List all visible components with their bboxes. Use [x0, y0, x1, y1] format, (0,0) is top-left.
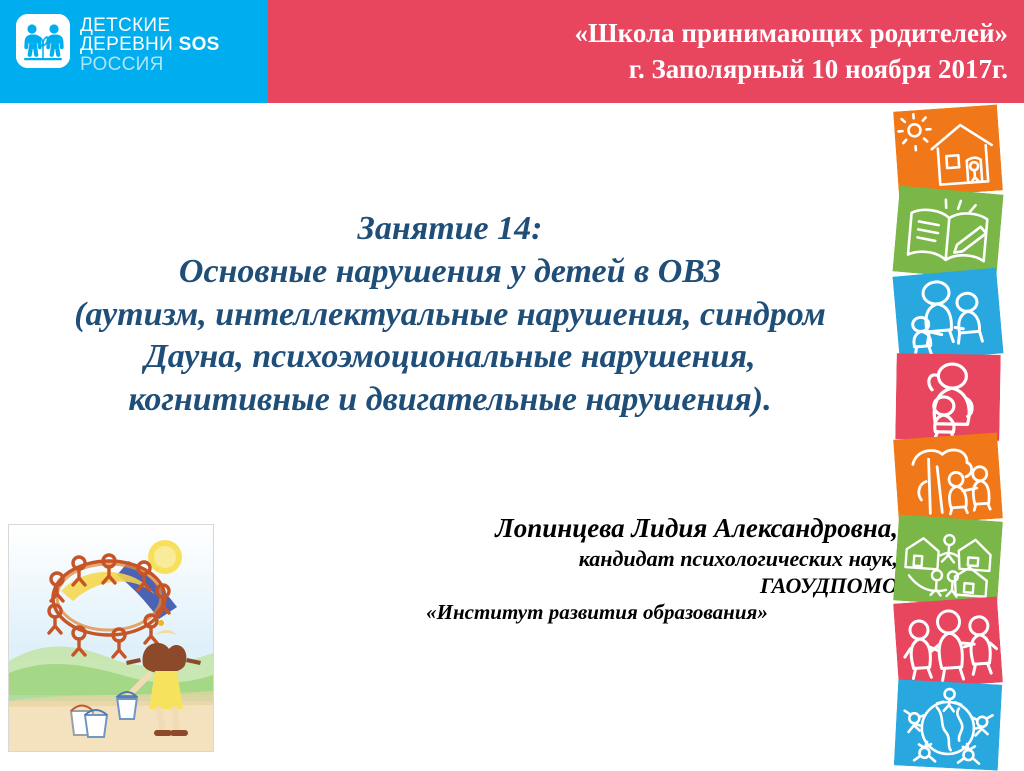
author-block: Лопинцева Лидия Александровна, кандидат …: [300, 512, 898, 626]
event-title: «Школа принимающих родителей»: [575, 16, 1008, 52]
event-place-date: г. Заполярный 10 ноября 2017г.: [575, 52, 1008, 88]
slide-title-line-5: когнитивные и двигательные нарушения).: [0, 379, 900, 422]
slide-title: Занятие 14: Основные нарушения у детей в…: [0, 208, 900, 422]
slide-title-line-4: Дауна, психоэмоциональные нарушения,: [0, 336, 900, 379]
logo-line-rossiya: РОССИЯ: [80, 55, 220, 74]
two-children-logo-icon: [16, 14, 70, 68]
slide-title-line-3: (аутизм, интеллектуальные нарушения, син…: [0, 294, 900, 337]
header-logo-panel: ДЕТСКИЕ ДЕРЕВНИ SOS РОССИЯ: [0, 0, 268, 103]
sos-childrens-villages-logo: ДЕТСКИЕ ДЕРЕВНИ SOS РОССИЯ: [16, 14, 220, 74]
author-degree: кандидат психологических наук,: [300, 545, 898, 572]
event-header-text: «Школа принимающих родителей» г. Заполяр…: [575, 16, 1008, 87]
house-with-sun-icon: [893, 104, 1003, 197]
tree-with-children-icon: [893, 432, 1003, 525]
slide-title-line-1: Занятие 14:: [0, 208, 900, 251]
author-name: Лопинцева Лидия Александровна,: [300, 512, 898, 545]
slide-title-line-2: Основные нарушения у детей в ОВЗ: [0, 251, 900, 294]
author-organization: ГАОУДПОМО: [300, 572, 898, 599]
village-houses-icon: [893, 514, 1003, 607]
logo-word-sos: SOS: [179, 34, 220, 55]
mother-and-child-icon: [895, 353, 1000, 441]
header-title-panel: «Школа принимающих родителей» г. Заполяр…: [268, 0, 1024, 103]
slide-header: ДЕТСКИЕ ДЕРЕВНИ SOS РОССИЯ «Школа приним…: [0, 0, 1024, 103]
girl-painting-rainbow-illustration: [8, 524, 214, 752]
logo-line-derevni-sos: ДЕРЕВНИ SOS: [80, 35, 220, 54]
family-three-figures-icon: [892, 268, 1003, 363]
logo-word-derevni: ДЕРЕВНИ: [80, 34, 179, 55]
globe-with-children-icon: [894, 679, 1002, 770]
open-book-with-pencil-icon: [892, 186, 1003, 281]
three-children-icon: [893, 596, 1003, 689]
decorative-icon-strip: [888, 108, 1024, 767]
logo-line-detskie: ДЕТСКИЕ: [80, 16, 220, 35]
author-institute: «Институт развития образования»: [300, 599, 898, 625]
logo-wordmark: ДЕТСКИЕ ДЕРЕВНИ SOS РОССИЯ: [80, 14, 220, 74]
